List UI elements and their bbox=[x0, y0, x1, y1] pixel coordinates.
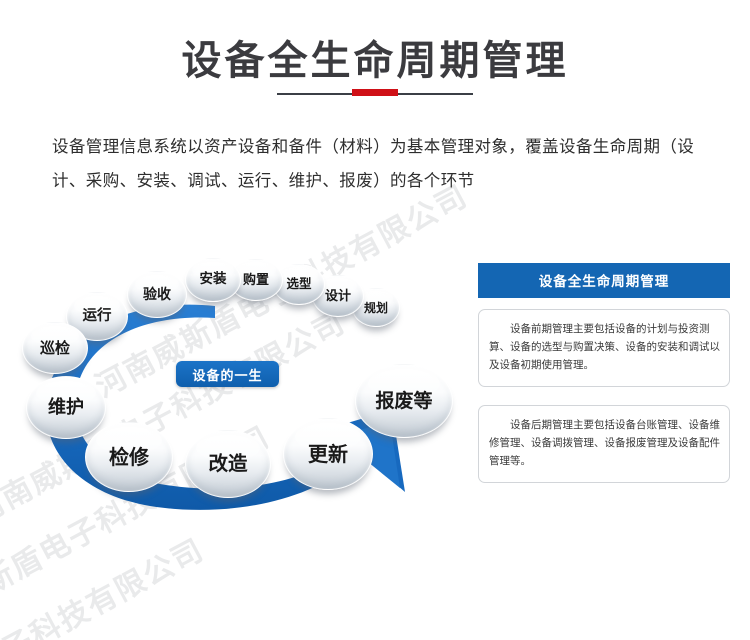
lifecycle-node-label: 购置 bbox=[243, 274, 269, 287]
lifecycle-node-gaizao[interactable]: 改造 bbox=[185, 430, 271, 498]
info-panel-header: 设备全生命周期管理 bbox=[478, 263, 730, 298]
lifecycle-diagram: 规划 设计 选型 购置 安装 验收 运行 巡检 维护 检修 改造 更新 报废等 bbox=[0, 240, 470, 540]
info-panel-box-late-stage: 设备后期管理主要包括设备台账管理、设备维修管理、设备调拨管理、设备报废管理及设备… bbox=[478, 405, 730, 483]
lifecycle-node-baofei[interactable]: 报废等 bbox=[355, 364, 453, 438]
page-title: 设备全生命周期管理 bbox=[0, 28, 750, 86]
lifecycle-node-label: 更新 bbox=[308, 444, 348, 464]
lifecycle-node-label: 改造 bbox=[208, 454, 247, 474]
lifecycle-node-label: 设计 bbox=[325, 290, 351, 303]
lifecycle-node-label: 维护 bbox=[48, 399, 84, 417]
lifecycle-node-label: 选型 bbox=[286, 278, 311, 291]
lifecycle-node-xunjian[interactable]: 巡检 bbox=[22, 322, 88, 374]
info-panel-box-early-stage: 设备前期管理主要包括设备的计划与投资测算、设备的选型与购置决策、设备的安装和调试… bbox=[478, 309, 730, 387]
intro-paragraph: 设备管理信息系统以资产设备和备件（材料）为基本管理对象，覆盖设备生命周期（设计、… bbox=[52, 130, 702, 198]
lifecycle-node-label: 安装 bbox=[200, 273, 227, 287]
lifecycle-node-label: 检修 bbox=[109, 447, 149, 467]
lifecycle-center-badge: 设备的一生 bbox=[176, 361, 279, 387]
lifecycle-node-weihu[interactable]: 维护 bbox=[26, 376, 106, 439]
lifecycle-node-label: 报废等 bbox=[375, 392, 432, 411]
lifecycle-node-gengxin[interactable]: 更新 bbox=[283, 418, 373, 490]
info-panel: 设备全生命周期管理 设备前期管理主要包括设备的计划与投资测算、设备的选型与购置决… bbox=[478, 263, 730, 483]
lifecycle-node-jianxiu[interactable]: 检修 bbox=[85, 422, 173, 492]
lifecycle-node-label: 运行 bbox=[83, 309, 112, 324]
lifecycle-node-label: 验收 bbox=[143, 288, 171, 302]
lifecycle-node-label: 规划 bbox=[364, 302, 388, 314]
lifecycle-node-yanshou[interactable]: 验收 bbox=[127, 271, 187, 318]
lifecycle-node-label: 巡检 bbox=[40, 341, 70, 356]
title-divider-accent bbox=[352, 89, 398, 96]
lifecycle-node-anzhuang[interactable]: 安装 bbox=[185, 258, 241, 302]
lifecycle-center-label: 设备的一生 bbox=[192, 365, 262, 384]
